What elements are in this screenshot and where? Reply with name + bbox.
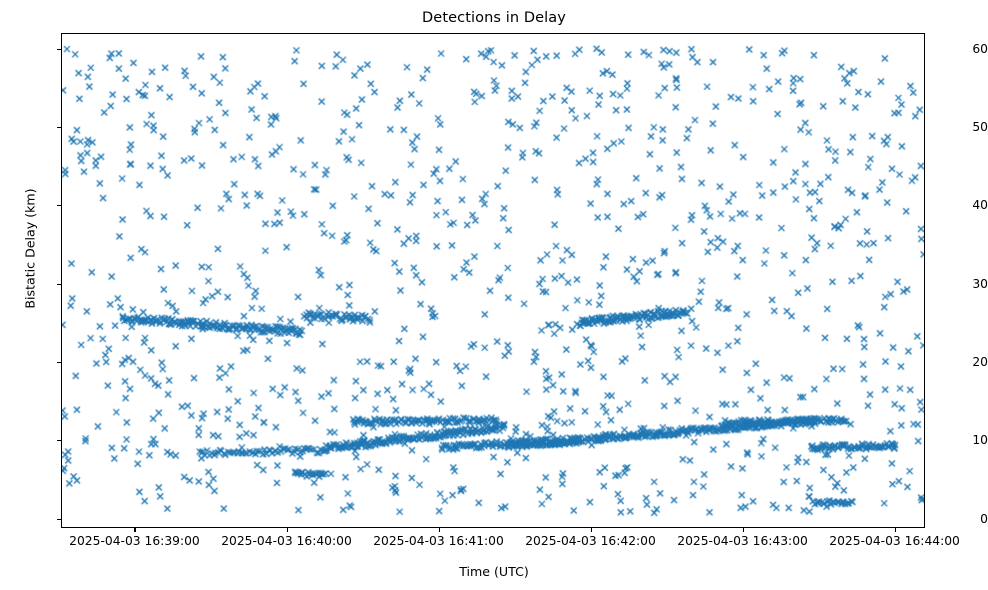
x-tick-mark: [287, 528, 288, 532]
x-tick-mark: [743, 528, 744, 532]
x-tick-label: 2025-04-03 16:39:00: [24, 534, 244, 548]
x-tick-label: 2025-04-03 16:44:00: [785, 534, 988, 548]
y-tick-label: 10: [938, 434, 988, 446]
y-tick-label: 0: [938, 513, 988, 525]
x-tick-mark: [591, 528, 592, 532]
x-tick-label: 2025-04-03 16:40:00: [177, 534, 397, 548]
x-tick-mark: [439, 528, 440, 532]
y-tick-label: 40: [938, 199, 988, 211]
x-tick-label: 2025-04-03 16:41:00: [329, 534, 549, 548]
y-tick-label: 20: [938, 356, 988, 368]
y-tick-label: 30: [938, 278, 988, 290]
x-tick-label: 2025-04-03 16:42:00: [481, 534, 701, 548]
x-tick-mark: [895, 528, 896, 532]
plot-area: [61, 33, 925, 528]
matplotlib-figure: Detections in Delay Bistatic Delay (km) …: [0, 0, 988, 590]
x-tick-label: 2025-04-03 16:43:00: [633, 534, 853, 548]
x-axis-label: Time (UTC): [0, 564, 988, 579]
y-tick-label: 50: [938, 121, 988, 133]
y-axis-label: Bistatic Delay (km): [23, 19, 38, 479]
chart-title: Detections in Delay: [0, 10, 988, 26]
y-tick-label: 60: [938, 43, 988, 55]
scatter-plot-canvas: [62, 34, 924, 527]
x-tick-mark: [134, 528, 135, 532]
